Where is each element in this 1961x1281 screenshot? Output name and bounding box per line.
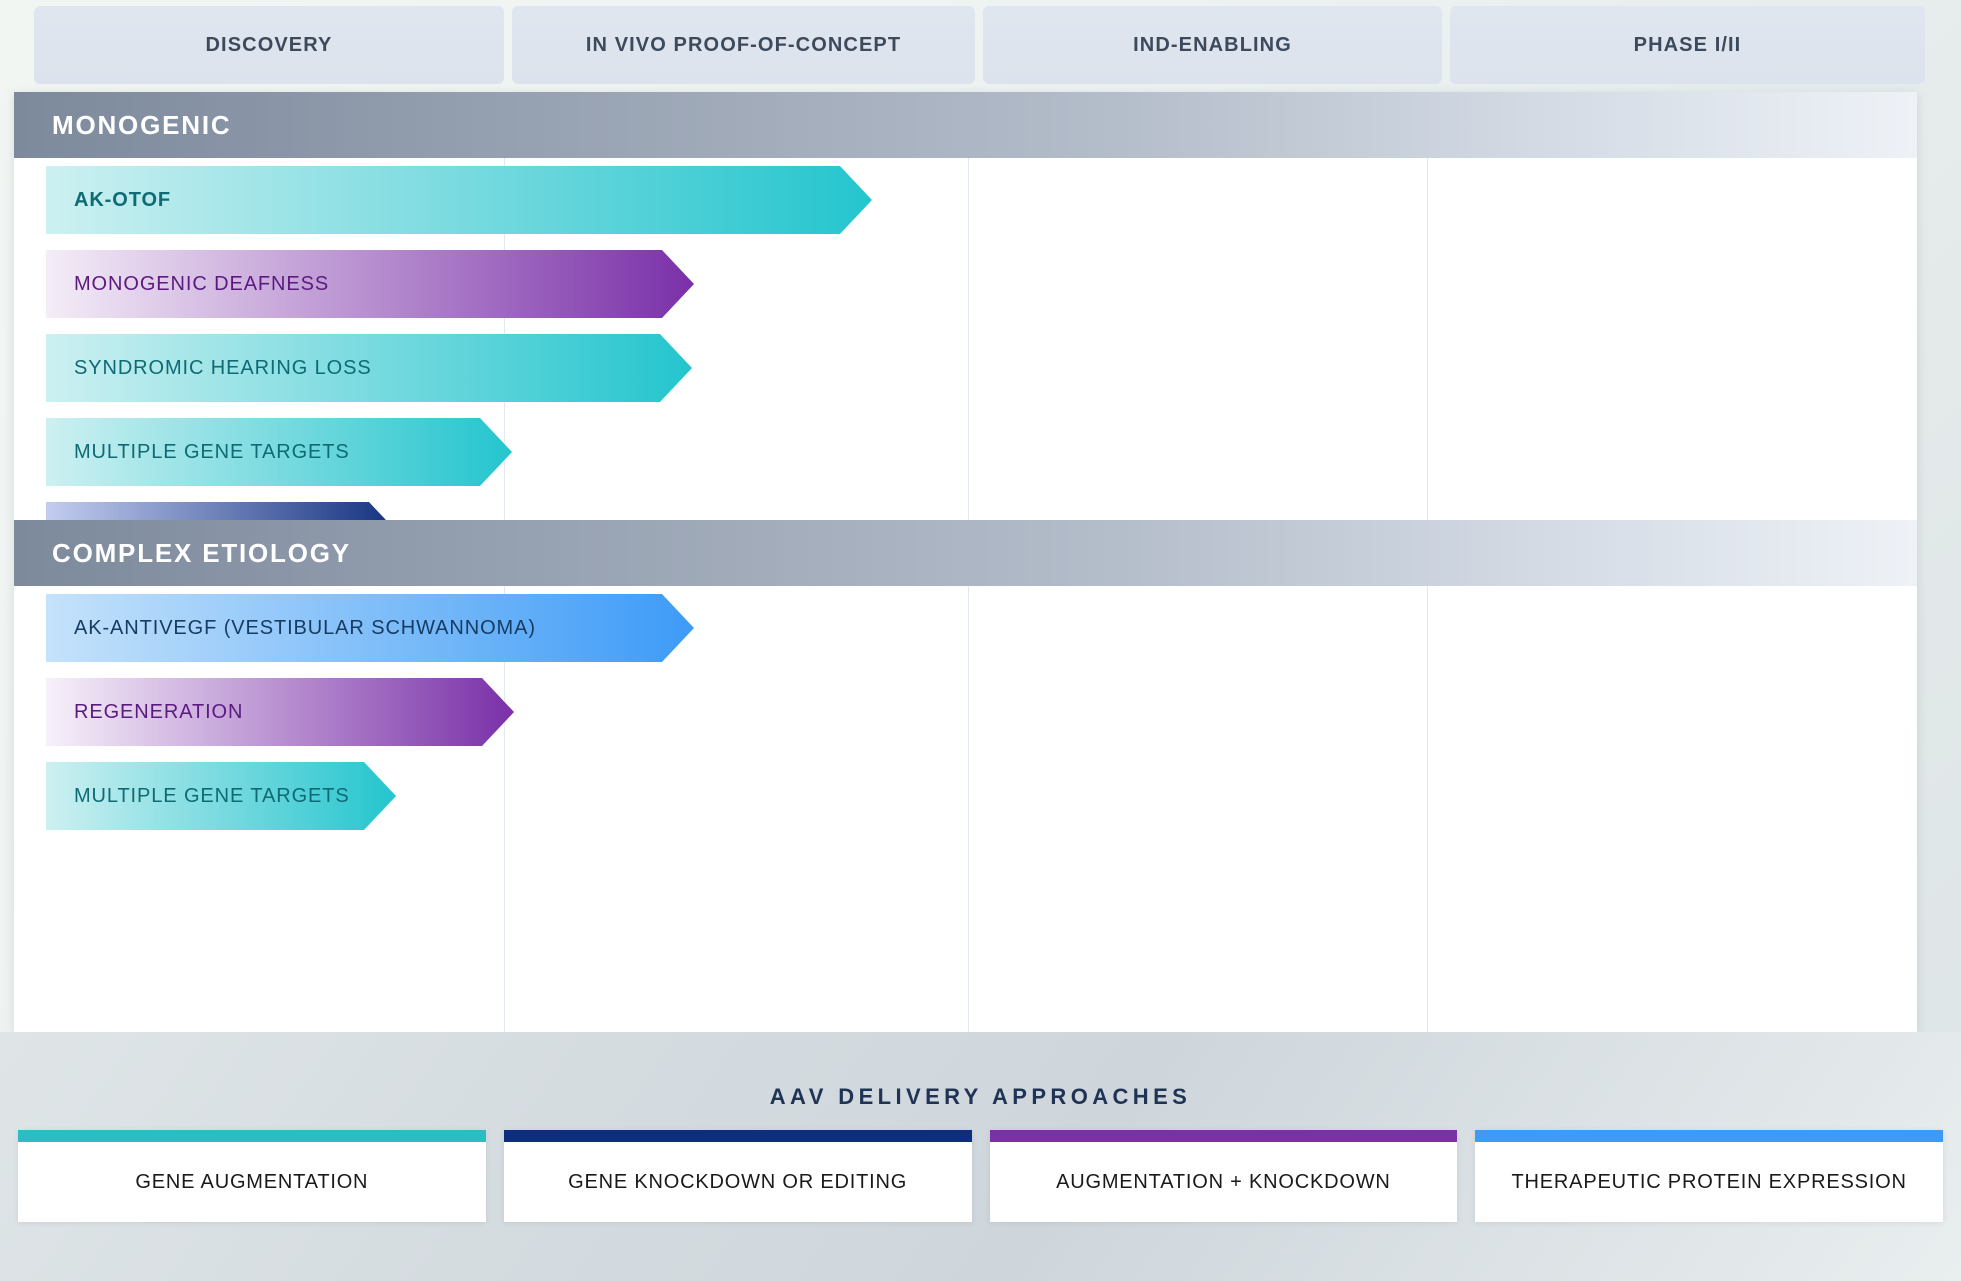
legend-item[interactable]: GENE KNOCKDOWN OR EDITING: [504, 1130, 972, 1222]
program-label: MULTIPLE GENE TARGETS: [74, 441, 350, 464]
program-bar[interactable]: SYNDROMIC HEARING LOSS: [46, 334, 692, 402]
legend-item[interactable]: GENE AUGMENTATION: [18, 1130, 486, 1222]
program-row[interactable]: MULTIPLE GENE TARGETS: [46, 418, 512, 486]
program-row[interactable]: MULTIPLE GENE TARGETS: [46, 762, 396, 830]
program-label: AK-OTOF: [74, 189, 171, 212]
program-bar[interactable]: AK-ANTIVEGF (VESTIBULAR SCHWANNOMA): [46, 594, 694, 662]
program-label: REGENERATION: [74, 701, 243, 724]
program-label: SYNDROMIC HEARING LOSS: [74, 357, 372, 380]
legend-label: GENE AUGMENTATION: [18, 1142, 486, 1222]
legend-color-swatch: [1475, 1130, 1943, 1142]
program-row[interactable]: REGENERATION: [46, 678, 514, 746]
pipeline-panel: MONOGENIC COMPLEX ETIOLOGY AK-OTOFMONOGE…: [14, 92, 1917, 1032]
program-row[interactable]: AK-OTOF: [46, 166, 872, 234]
legend: GENE AUGMENTATIONGENE KNOCKDOWN OR EDITI…: [18, 1130, 1943, 1222]
legend-item[interactable]: THERAPEUTIC PROTEIN EXPRESSION: [1475, 1130, 1943, 1222]
stage-tab-label: IND-ENABLING: [1133, 34, 1292, 57]
legend-color-swatch: [18, 1130, 486, 1142]
program-label: MULTIPLE GENE TARGETS: [74, 785, 350, 808]
group-header-label: MONOGENIC: [52, 110, 231, 141]
legend-label: GENE KNOCKDOWN OR EDITING: [504, 1142, 972, 1222]
stage-tab-label: PHASE I/II: [1634, 34, 1742, 57]
group-header-complex-etiology: COMPLEX ETIOLOGY: [14, 520, 1917, 586]
program-row[interactable]: MONOGENIC DEAFNESS: [46, 250, 694, 318]
program-bar[interactable]: AK-OTOF: [46, 166, 872, 234]
group-header-label: COMPLEX ETIOLOGY: [52, 538, 351, 569]
legend-color-swatch: [990, 1130, 1458, 1142]
stage-tab-discovery[interactable]: DISCOVERY: [34, 6, 504, 84]
stage-tab-label: IN VIVO PROOF-OF-CONCEPT: [586, 34, 901, 57]
legend-item[interactable]: AUGMENTATION + KNOCKDOWN: [990, 1130, 1458, 1222]
stage-tab-phase-i-ii[interactable]: PHASE I/II: [1450, 6, 1925, 84]
legend-color-swatch: [504, 1130, 972, 1142]
stage-tab-in-vivo-proof-of-concept[interactable]: IN VIVO PROOF-OF-CONCEPT: [512, 6, 975, 84]
program-label: AK-ANTIVEGF (VESTIBULAR SCHWANNOMA): [74, 617, 536, 640]
stage-tab-ind-enabling[interactable]: IND-ENABLING: [983, 6, 1442, 84]
program-row[interactable]: AK-ANTIVEGF (VESTIBULAR SCHWANNOMA): [46, 594, 694, 662]
program-label: MONOGENIC DEAFNESS: [74, 273, 329, 296]
pipeline-chart: DISCOVERY IN VIVO PROOF-OF-CONCEPT IND-E…: [0, 0, 1961, 1281]
program-bar[interactable]: REGENERATION: [46, 678, 514, 746]
program-bar[interactable]: MONOGENIC DEAFNESS: [46, 250, 694, 318]
program-bar[interactable]: MULTIPLE GENE TARGETS: [46, 418, 512, 486]
group-header-monogenic: MONOGENIC: [14, 92, 1917, 158]
legend-label: AUGMENTATION + KNOCKDOWN: [990, 1142, 1458, 1222]
legend-label: THERAPEUTIC PROTEIN EXPRESSION: [1475, 1142, 1943, 1222]
footer: AAV DELIVERY APPROACHES GENE AUGMENTATIO…: [0, 1032, 1961, 1281]
footer-title: AAV DELIVERY APPROACHES: [0, 1084, 1961, 1110]
program-bar[interactable]: MULTIPLE GENE TARGETS: [46, 762, 396, 830]
program-row[interactable]: SYNDROMIC HEARING LOSS: [46, 334, 692, 402]
stage-header: DISCOVERY IN VIVO PROOF-OF-CONCEPT IND-E…: [34, 6, 1927, 84]
stage-tab-label: DISCOVERY: [206, 34, 333, 57]
